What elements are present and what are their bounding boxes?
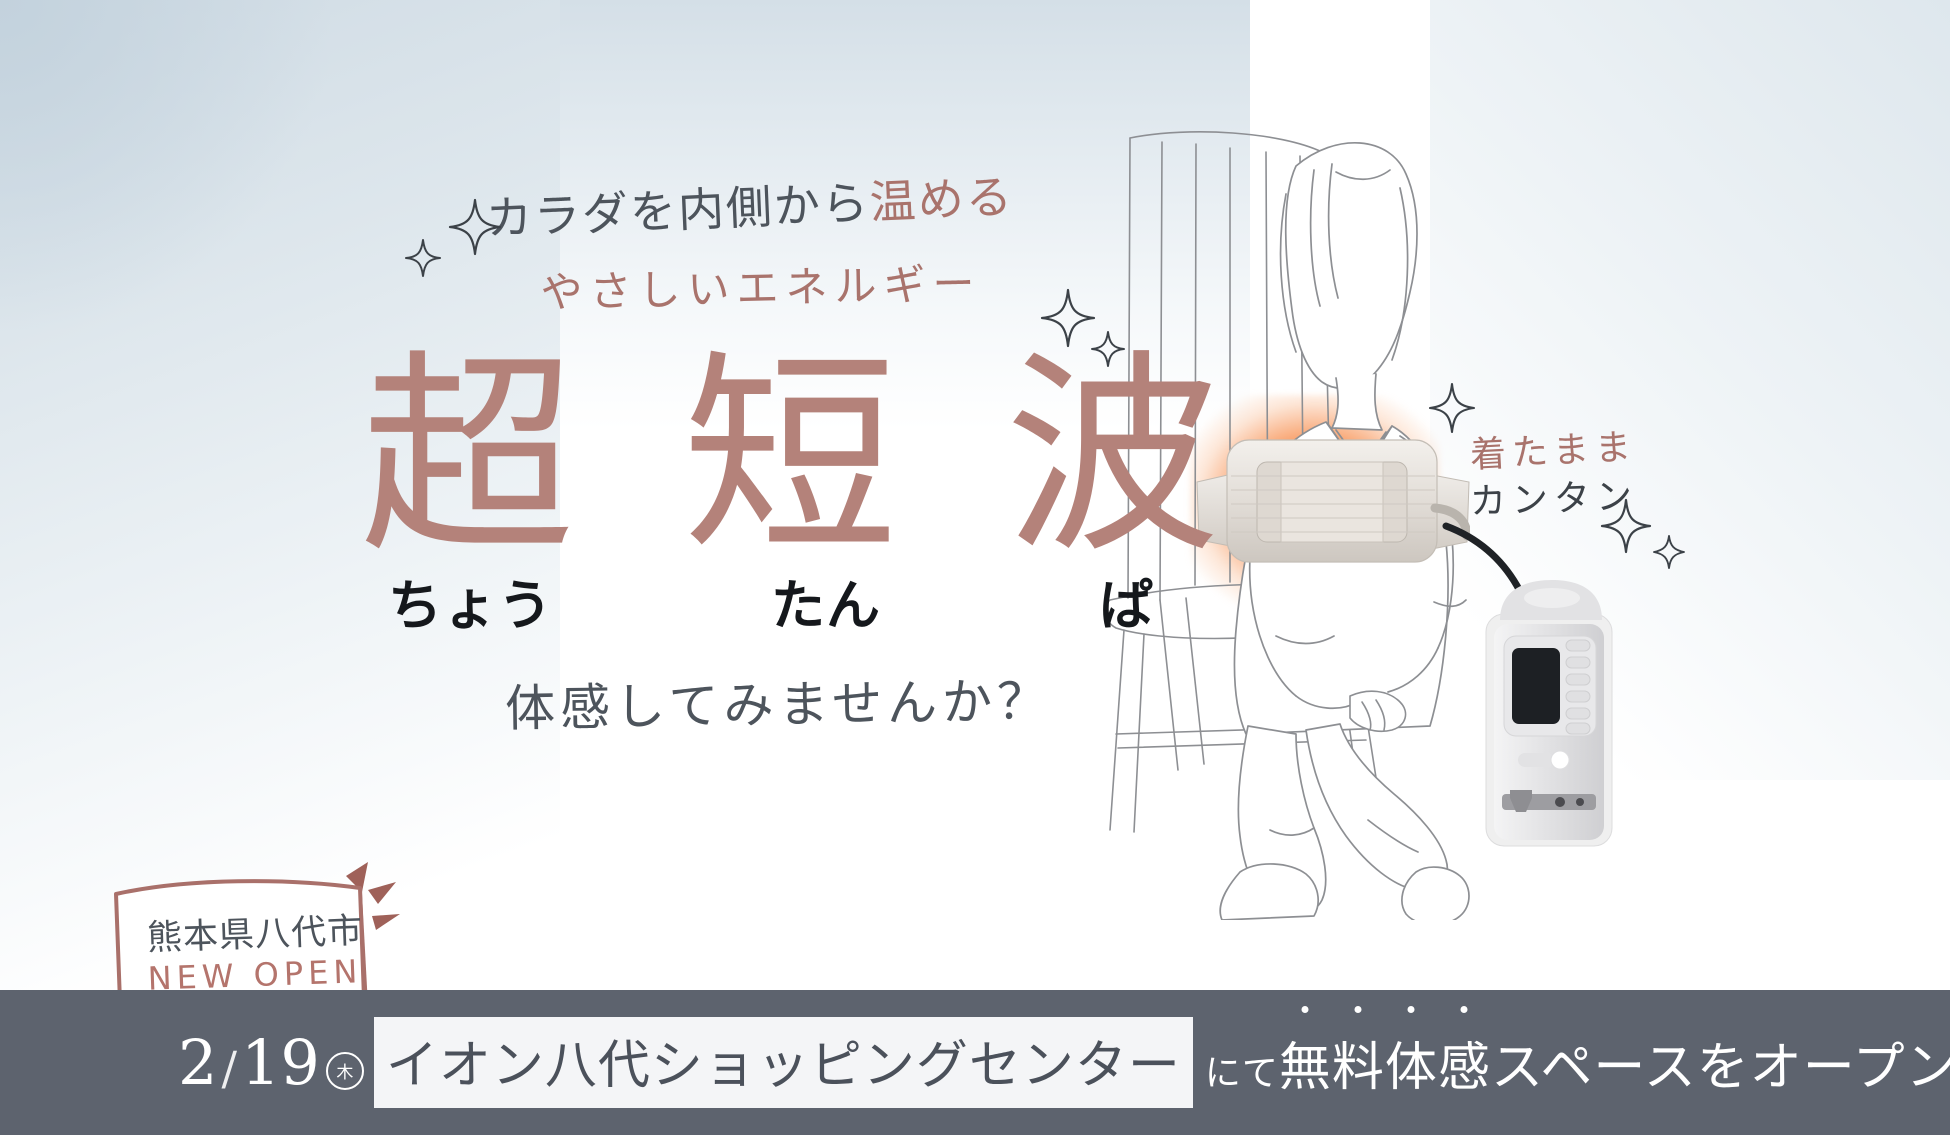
- sparkle-icon: [448, 198, 502, 256]
- headline-char-2: 短: [683, 355, 898, 559]
- bottom-bar-content: 2 / 19 木 イオン八代ショッピングセンター にて 無料体感 スペースをオー…: [178, 1017, 1950, 1108]
- description-emphasis: 無料体感: [1279, 1025, 1491, 1100]
- headline-subline: 体感してみませんか？: [505, 661, 1053, 741]
- headline-block: 超 短 波 ちょう たん ぱ: [360, 355, 1220, 640]
- callout-line-2: カンタン: [1469, 475, 1638, 525]
- shortwave-device-unit: [1462, 578, 1642, 853]
- event-description: にて 無料体感 スペースをオープン！！: [1205, 1025, 1950, 1100]
- event-day-of-week: 木: [326, 1052, 364, 1090]
- sparkle-icon: [1428, 382, 1476, 434]
- event-month: 2: [178, 1026, 217, 1099]
- description-suffix: スペースをオープン！！: [1491, 1025, 1950, 1100]
- callout-line-1: 着たまま: [1469, 426, 1639, 479]
- tagline-line-1-plain: カラダを内側から: [485, 176, 871, 246]
- sparkle-icon: [404, 238, 442, 278]
- sparkle-icon: [1652, 534, 1686, 570]
- bottom-info-bar: 2 / 19 木 イオン八代ショッピングセンター にて 無料体感 スペースをオー…: [0, 990, 1950, 1135]
- headline-char-3: 波: [1005, 355, 1220, 559]
- promo-poster: カラダを内側から温める やさしいエネルギー 超 短 波 ちょう たん ぱ 体感し…: [0, 0, 1950, 1135]
- waist-belt-device: [1195, 430, 1470, 575]
- headline-char-1: 超: [360, 355, 575, 559]
- tagline: カラダを内側から温める やさしいエネルギー: [430, 185, 1070, 322]
- event-date: 2 / 19 木: [178, 1026, 364, 1099]
- date-separator: /: [221, 1041, 237, 1095]
- event-day: 19: [241, 1026, 320, 1099]
- description-prefix: にて: [1205, 1044, 1279, 1096]
- headline-characters: 超 短 波: [360, 355, 1220, 559]
- tagline-line-2: やさしいエネルギー: [451, 248, 1070, 322]
- feature-callout: 着たまま カンタン: [1470, 430, 1638, 522]
- tagline-line-1-accent: 温める: [869, 170, 1015, 230]
- event-venue: イオン八代ショッピングセンター: [374, 1017, 1193, 1108]
- background-gradient-corner: [0, 0, 330, 330]
